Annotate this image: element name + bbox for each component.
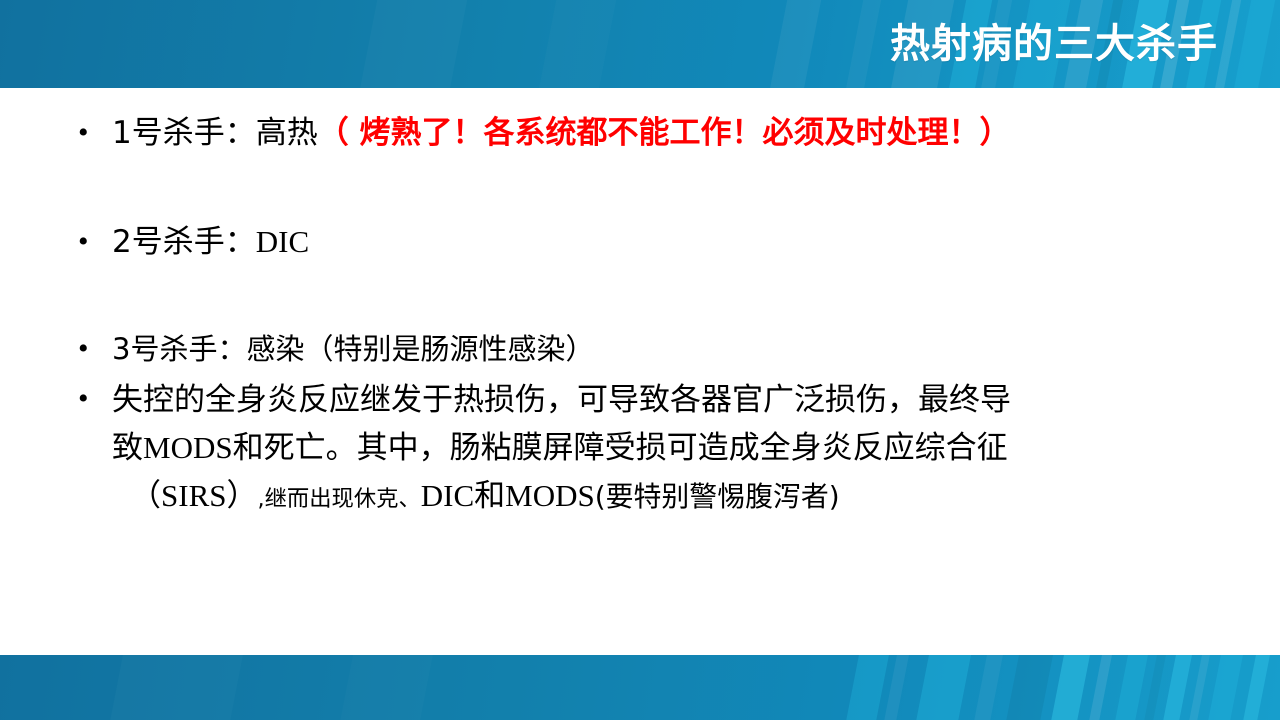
paragraph-line-3: （SIRS）,继而出现休克、DIC和MODS(要特别警惕腹泻者) xyxy=(112,472,1250,523)
bullet-item-3-body: 3号杀手：感染（特别是肠源性感染） xyxy=(112,327,1250,372)
bullet-item-3-line: 3号杀手：感染（特别是肠源性感染） xyxy=(112,327,1250,372)
footer-ray-decoration xyxy=(0,655,1280,720)
killer-1-emphasis: （ 烤熟了！各系统都不能工作！必须及时处理！） xyxy=(318,115,1011,151)
page-title: 热射病的三大杀手 xyxy=(890,24,1218,64)
bullet-marker: • xyxy=(78,376,112,422)
killer-3-label: 3号杀手：感染（特别是肠源性感染） xyxy=(112,332,594,366)
killer-2-term: DIC xyxy=(256,224,309,259)
paragraph-line-3-text-b: ） xyxy=(226,478,257,514)
bullet-item-1-body: 1号杀手：高热（ 烤熟了！各系统都不能工作！必须及时处理！） xyxy=(112,110,1250,156)
slide-content: • 1号杀手：高热（ 烤熟了！各系统都不能工作！必须及时处理！） • 2号杀手：… xyxy=(0,110,1280,523)
bullet-item-2-line: 2号杀手：DIC xyxy=(112,219,1250,265)
killer-1-label: 1号杀手：高热 xyxy=(112,115,318,151)
paragraph-line-3-term-mods: MODS xyxy=(505,478,595,513)
paragraph-line-2-term: MODS xyxy=(143,430,233,465)
bullet-marker: • xyxy=(78,219,112,265)
bullet-marker: • xyxy=(78,110,112,156)
paragraph-line-3-text-e: (要特别警惕腹泻者) xyxy=(595,480,840,513)
paragraph-line-3-term-sirs: SIRS xyxy=(161,478,226,513)
bullet-item-4: • 失控的全身炎反应继发于热损伤，可导致各器官广泛损伤，最终导 致MODS和死亡… xyxy=(0,376,1280,523)
paragraph-line-2-text-b: 和死亡。其中，肠粘膜屏障受损可造成全身炎反应综合征 xyxy=(233,430,1008,466)
bullet-item-2: • 2号杀手：DIC xyxy=(0,219,1280,265)
paragraph-line-1-text: 失控的全身炎反应继发于热损伤，可导致各器官广泛损伤，最终导 xyxy=(112,382,1011,418)
header-band: 热射病的三大杀手 xyxy=(0,0,1280,88)
paragraph-line-3-text-c: ,继而出现休克、 xyxy=(257,486,420,512)
bullet-marker: • xyxy=(78,327,112,371)
paragraph-line-1: 失控的全身炎反应继发于热损伤，可导致各器官广泛损伤，最终导 xyxy=(112,376,1250,424)
slide: 热射病的三大杀手 • 1号杀手：高热（ 烤熟了！各系统都不能工作！必须及时处理！… xyxy=(0,0,1280,720)
paragraph-line-3-term-dic: DIC xyxy=(421,478,474,513)
paragraph-line-2: 致MODS和死亡。其中，肠粘膜屏障受损可造成全身炎反应综合征 xyxy=(112,424,1250,472)
paragraph-line-3-text-d: 和 xyxy=(474,478,505,514)
bullet-item-4-body: 失控的全身炎反应继发于热损伤，可导致各器官广泛损伤，最终导 致MODS和死亡。其… xyxy=(112,376,1250,523)
bullet-item-1: • 1号杀手：高热（ 烤熟了！各系统都不能工作！必须及时处理！） xyxy=(0,110,1280,156)
paragraph-line-2-text-a: 致 xyxy=(112,430,143,466)
paragraph-line-3-text-a: （ xyxy=(130,478,161,514)
killer-2-label: 2号杀手： xyxy=(112,224,256,260)
footer-band xyxy=(0,655,1280,720)
bullet-item-2-body: 2号杀手：DIC xyxy=(112,219,1250,265)
bullet-item-3: • 3号杀手：感染（特别是肠源性感染） xyxy=(0,327,1280,372)
bullet-item-1-line: 1号杀手：高热（ 烤熟了！各系统都不能工作！必须及时处理！） xyxy=(112,110,1250,156)
